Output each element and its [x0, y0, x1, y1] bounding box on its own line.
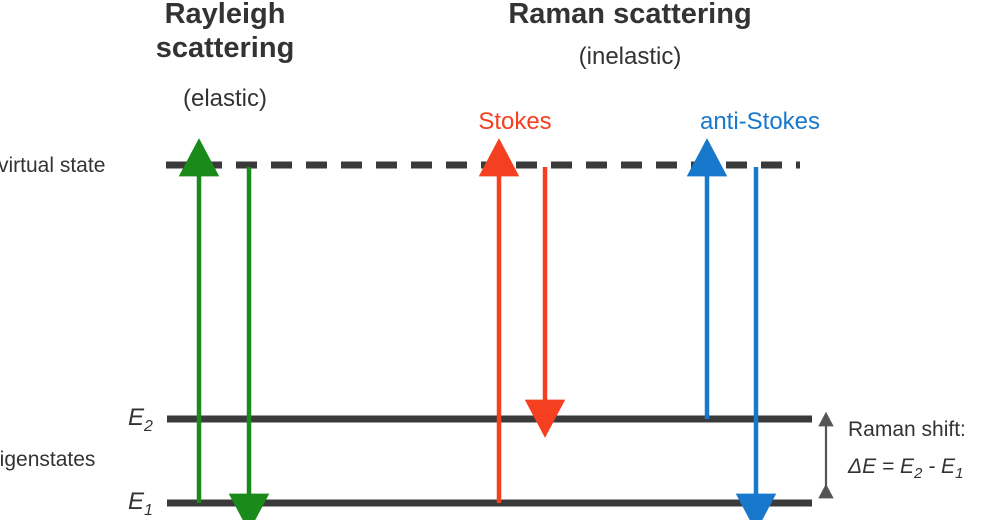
energy-level-e1-label: E1: [128, 488, 153, 520]
diagram-canvas: Rayleigh scattering (elastic) Raman scat…: [0, 0, 1000, 520]
rayleigh-subtitle: (elastic): [75, 85, 375, 113]
stokes-label: Stokes: [425, 108, 605, 136]
rayleigh-title-line2: scattering: [75, 32, 375, 66]
e2-subscript: 2: [144, 418, 153, 435]
raman-title: Raman scattering: [480, 0, 780, 32]
delta-e-expression: ΔE = E: [848, 455, 914, 478]
e1-subscript: 1: [144, 502, 153, 519]
diagram-svg: [0, 0, 1000, 520]
delta-e1-subscript: 1: [955, 465, 963, 482]
rayleigh-title: Rayleigh scattering: [75, 0, 375, 66]
e2-symbol: E: [128, 404, 144, 431]
e1-symbol: E: [128, 488, 144, 515]
raman-subtitle: (inelastic): [480, 43, 780, 71]
raman-shift-equation: ΔE = E2 - E1: [848, 455, 963, 482]
delta-minus: - E: [922, 455, 955, 478]
eigenstates-label: eigenstates: [0, 448, 95, 472]
rayleigh-title-line1: Rayleigh: [75, 0, 375, 32]
virtual-state-label: virtual state: [0, 154, 105, 178]
anti-stokes-label: anti-Stokes: [640, 108, 880, 136]
energy-level-e2-label: E2: [128, 404, 153, 436]
raman-shift-label: Raman shift:: [848, 418, 966, 442]
